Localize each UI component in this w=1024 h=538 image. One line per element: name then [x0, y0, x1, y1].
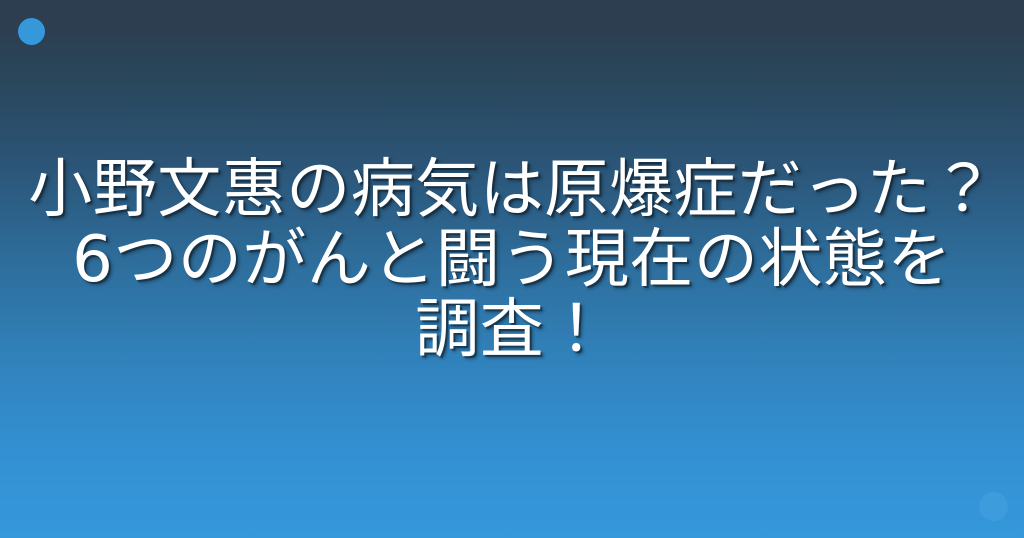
- headline-line-2: 6つのがんと闘う現在の状態を: [24, 225, 1000, 295]
- headline-line-3: 調査！: [24, 295, 1000, 365]
- eyecatch-card: 小野文惠の病気は原爆症だった？ 6つのがんと闘う現在の状態を 調査！: [0, 0, 1024, 538]
- headline-text-group: 小野文惠の病気は原爆症だった？ 6つのがんと闘う現在の状態を 調査！: [24, 155, 1000, 365]
- headline-line-1: 小野文惠の病気は原爆症だった？: [24, 155, 1000, 225]
- headline-block: 小野文惠の病気は原爆症だった？ 6つのがんと闘う現在の状態を 調査！: [0, 0, 1024, 538]
